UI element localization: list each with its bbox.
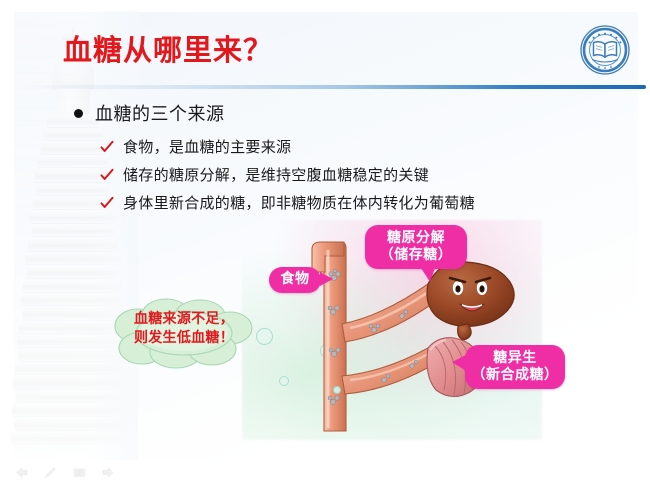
callout-food: 食物: [269, 267, 321, 293]
callout-glycogen-breakdown: 糖原分解 （储存糖）: [365, 225, 467, 269]
callout-tail-icon: [320, 272, 333, 286]
bullet-item-3: 身体里新合成的糖，即非糖物质在体内转化为葡萄糖: [100, 192, 614, 213]
callout-gluconeo-line2: （新合成糖）: [465, 367, 565, 384]
bullet-item-label: 储存的糖原分解，是维持空腹血糖稳定的关键: [123, 164, 429, 185]
callout-gluconeo-line1: 糖异生: [465, 350, 565, 367]
previous-slide-icon[interactable]: [14, 465, 29, 480]
bullet-item-label: 身体里新合成的糖，即非糖物质在体内转化为葡萄糖: [123, 192, 475, 213]
check-icon: [100, 140, 114, 154]
callout-gluconeogenesis: 糖异生 （新合成糖）: [465, 345, 565, 389]
bullet-item-1: 食物，是血糖的主要来源: [100, 136, 614, 157]
slide-menu-icon[interactable]: [72, 465, 87, 480]
callout-tail-icon: [421, 268, 435, 282]
presentation-slide: 血糖从哪里来？ 血糖的三个来源: [0, 0, 650, 488]
check-icon: [100, 168, 114, 182]
cloud-note-line1: 血糖来源不足，: [112, 310, 256, 329]
book-pagoda-watermark: [8, 10, 138, 460]
next-slide-icon[interactable]: [101, 465, 116, 480]
callout-glycogen-line1: 糖原分解: [365, 230, 467, 247]
bullet-dot-icon: [74, 109, 83, 118]
title-divider: [22, 85, 646, 89]
slideshow-navbar[interactable]: [14, 465, 116, 480]
bullet-list: 血糖的三个来源 食物，是血糖的主要来源 储存的糖原分解，是维持空腹血糖稳定的关键: [74, 100, 614, 220]
cloud-note-line2: 则发生低血糖！: [112, 329, 256, 348]
callout-tail-icon: [452, 355, 466, 371]
decor-circle: [333, 386, 341, 394]
bullet-level1-label: 血糖的三个来源: [95, 100, 225, 126]
university-seal-logo: [579, 24, 631, 76]
low-blood-sugar-note: 血糖来源不足， 则发生低血糖！: [112, 296, 256, 370]
bullet-level1: 血糖的三个来源: [74, 100, 614, 126]
page-title: 血糖从哪里来？: [63, 27, 273, 69]
cloud-note-text: 血糖来源不足， 则发生低血糖！: [112, 310, 256, 348]
bullet-item-2: 储存的糖原分解，是维持空腹血糖稳定的关键: [100, 164, 614, 185]
pen-tool-icon[interactable]: [43, 465, 58, 480]
callout-glycogen-line2: （储存糖）: [365, 247, 467, 264]
check-icon: [100, 196, 114, 210]
bullet-item-label: 食物，是血糖的主要来源: [123, 136, 291, 157]
callout-food-label: 食物: [269, 271, 321, 288]
watermark-fade: [92, 10, 138, 460]
